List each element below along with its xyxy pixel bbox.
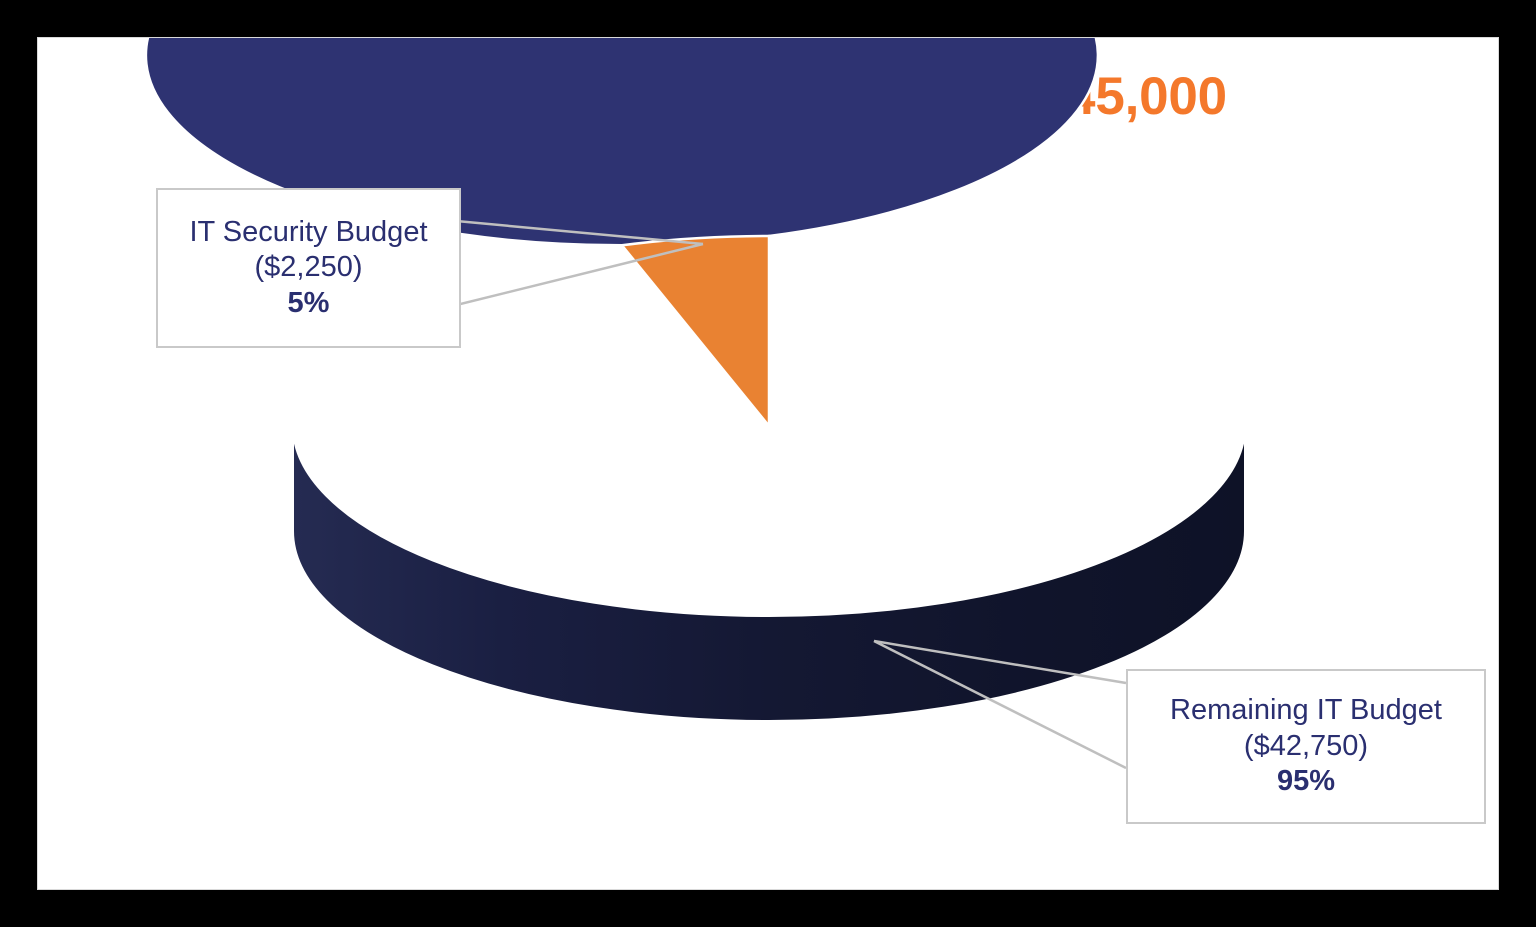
slide-body: Example IT Security Budget: $45,000 (37, 37, 1499, 890)
callout-remaining-value: ($42,750) (1244, 729, 1368, 764)
callout-remaining-label: Remaining IT Budget (1170, 693, 1442, 728)
pie-slice-remaining-side (293, 426, 1245, 721)
callout-security-percent: 5% (288, 286, 330, 321)
pie-slice-security-top (622, 236, 769, 426)
slide-canvas: Example IT Security Budget: $45,000 (0, 0, 1536, 927)
callout-it-security-budget[interactable]: IT Security Budget ($2,250) 5% (156, 188, 461, 348)
callout-security-value: ($2,250) (254, 250, 362, 285)
callout-remaining-percent: 95% (1277, 764, 1335, 799)
callout-security-label: IT Security Budget (189, 215, 427, 250)
callout-remaining-it-budget[interactable]: Remaining IT Budget ($42,750) 95% (1126, 669, 1486, 824)
